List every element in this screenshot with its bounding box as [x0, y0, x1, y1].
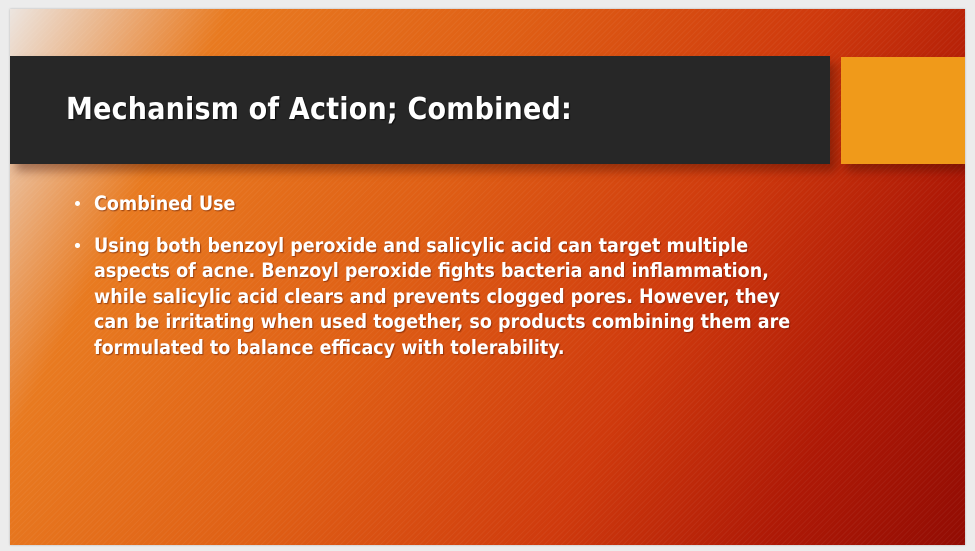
accent-block-orange [841, 57, 965, 164]
slide-title: Mechanism of Action; Combined: [66, 56, 572, 164]
title-band: Mechanism of Action; Combined: [10, 56, 830, 164]
bullet-item-text: Combined Use [94, 192, 235, 215]
bullet-item: Combined Use [65, 191, 825, 217]
bullet-item-text: Using both benzoyl peroxide and salicyli… [94, 234, 790, 359]
bullet-item-paragraph: Using both benzoyl peroxide and salicyli… [65, 233, 820, 361]
slide-canvas: Mechanism of Action; Combined: Combined … [10, 9, 965, 545]
slide-body-bullet-list: Combined Use Using both benzoyl peroxide… [65, 191, 825, 360]
presentation-page: Mechanism of Action; Combined: Combined … [0, 0, 975, 551]
